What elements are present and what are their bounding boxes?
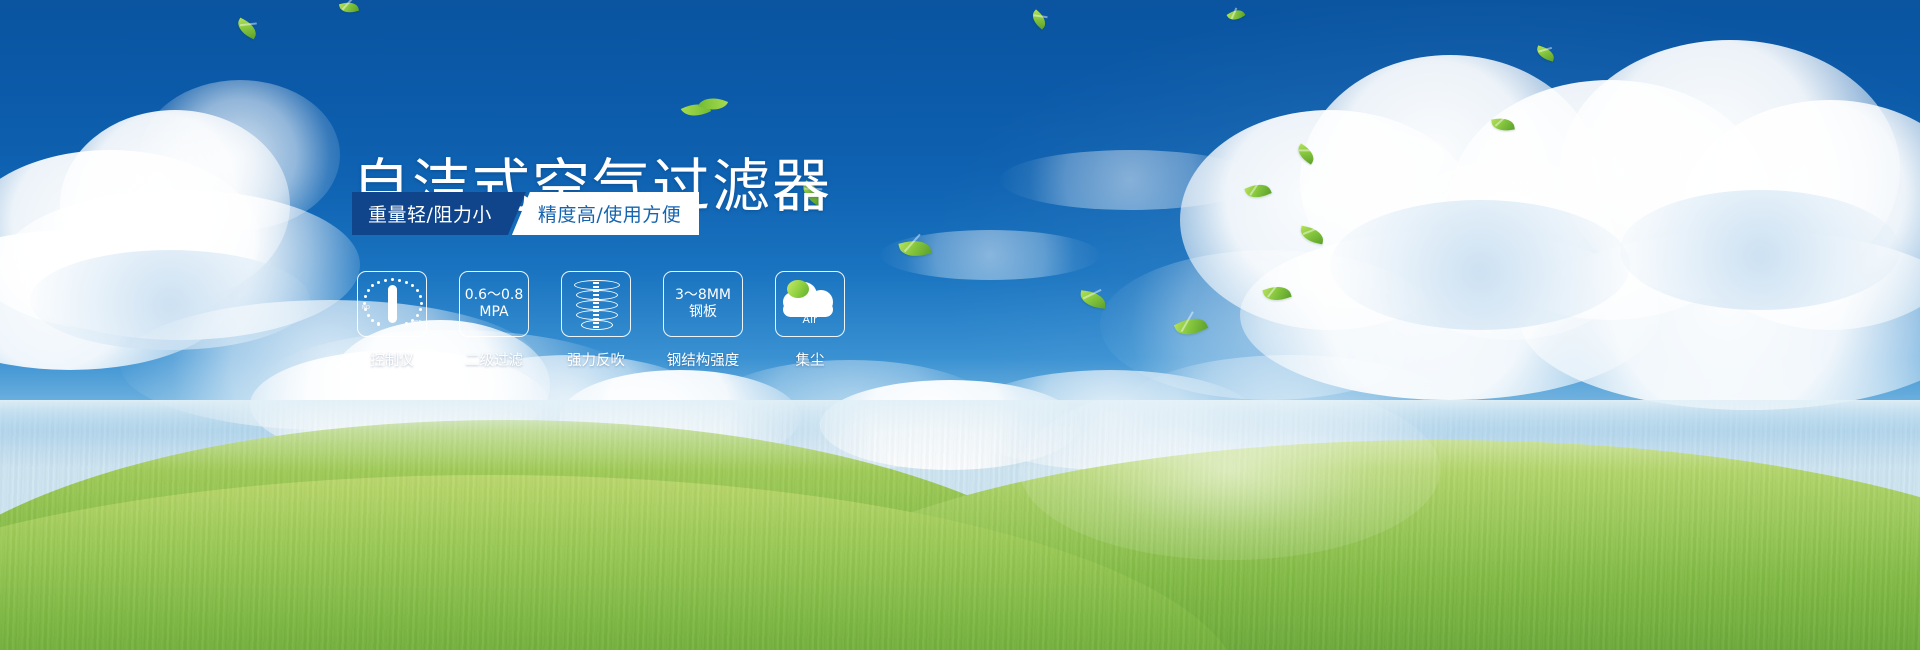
steel-thickness: 3～8MM	[675, 287, 731, 305]
feature-item-steel[interactable]: 3～8MM 钢板 钢结构强度	[662, 271, 744, 370]
feature-icon-box: NO OFF	[357, 271, 427, 337]
feature-caption: 强力反吹	[567, 349, 625, 370]
filter-coil-icon	[573, 278, 619, 330]
gauge-label-off: OFF	[411, 320, 422, 326]
air-label: Air	[781, 314, 839, 326]
gauge-label-no: NO	[362, 305, 370, 311]
feature-icon-box	[561, 271, 631, 337]
feature-item-pressure[interactable]: 0.6～0.8 MPA 二级过滤	[458, 271, 530, 370]
banner-content: 自洁式空气过滤器 重量轻/阻力小 精度高/使用方便	[0, 0, 1920, 650]
feature-item-controller[interactable]: NO OFF 控制仪	[356, 271, 428, 370]
subtitle-bar: 重量轻/阻力小 精度高/使用方便	[352, 192, 699, 235]
feature-caption: 二级过滤	[465, 349, 523, 370]
feature-icon-box: 0.6～0.8 MPA	[459, 271, 529, 337]
pressure-unit: MPA	[465, 304, 524, 322]
steel-plate-text-icon: 3～8MM 钢板	[675, 287, 731, 322]
pressure-range: 0.6～0.8	[465, 287, 524, 305]
steel-material: 钢板	[675, 304, 731, 322]
feature-caption: 钢结构强度	[667, 349, 740, 370]
feature-caption: 集尘	[796, 349, 825, 370]
subtitle-right: 精度高/使用方便	[512, 192, 699, 235]
air-cloud-icon: Air	[781, 278, 839, 330]
hero-banner: 自洁式空气过滤器 重量轻/阻力小 精度高/使用方便	[0, 0, 1920, 650]
gauge-dial-icon: NO OFF	[362, 276, 422, 332]
feature-icon-box: 3～8MM 钢板	[663, 271, 743, 337]
feature-item-dust[interactable]: Air 集尘	[774, 271, 846, 370]
feature-icon-box: Air	[775, 271, 845, 337]
feature-list: NO OFF 控制仪 0.6～0.8 MPA 二级过滤	[356, 271, 846, 370]
subtitle-left: 重量轻/阻力小	[352, 192, 526, 235]
leaf-pair-icon	[683, 94, 729, 124]
feature-caption: 控制仪	[370, 349, 414, 370]
feature-item-blowback[interactable]: 强力反吹	[560, 271, 632, 370]
pressure-text-icon: 0.6～0.8 MPA	[465, 287, 524, 322]
